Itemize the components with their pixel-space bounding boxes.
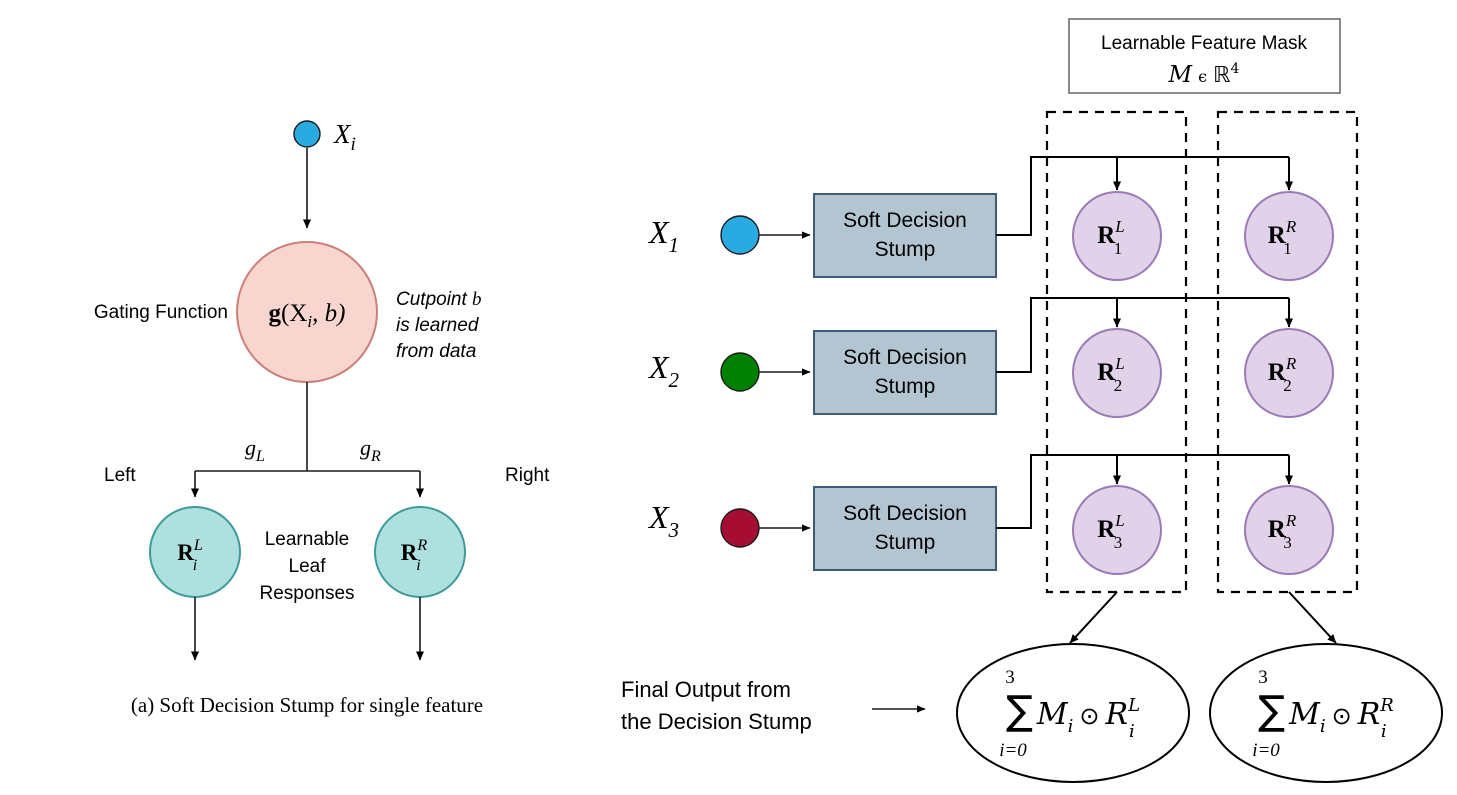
learnable-feature-mask-title: Learnable Feature Mask xyxy=(1101,33,1307,54)
response-circle-r2-right xyxy=(1245,329,1333,417)
response-circle-r3-right xyxy=(1245,486,1333,574)
stump-box-row-2-line-1: Soft Decision xyxy=(843,346,967,369)
stump-box-row-3 xyxy=(814,487,996,570)
cutpoint-annotation-line-3: from data xyxy=(396,341,476,362)
output-left-sum-upper: 3 xyxy=(1005,667,1015,688)
stump-box-row-3-line-2: Stump xyxy=(875,531,936,554)
final-output-line-2: the Decision Stump xyxy=(621,709,812,734)
branch-label-right: Right xyxy=(505,465,550,486)
response-circle-r1-left xyxy=(1073,192,1161,280)
feature-dot-x3 xyxy=(721,509,759,547)
response-circle-r2-left xyxy=(1073,329,1161,417)
learnable-feature-mask-formula: Mϵℝ4 xyxy=(1168,61,1240,88)
edge-right-column-to-output xyxy=(1289,592,1336,643)
stump-box-row-1 xyxy=(814,194,996,277)
feature-label-x1: X1 xyxy=(647,214,679,257)
stump-box-row-3-line-1: Soft Decision xyxy=(843,502,967,525)
feature-dot-x2 xyxy=(721,353,759,391)
gate-label-right: gR xyxy=(360,435,381,465)
cutpoint-annotation-line-2: is learned xyxy=(396,315,480,336)
stump-box-row-1-line-2: Stump xyxy=(875,238,936,261)
response-circle-r1-right xyxy=(1245,192,1333,280)
stump-box-row-2-line-2: Stump xyxy=(875,375,936,398)
learnable-leaf-responses-line-1: Learnable xyxy=(265,529,350,550)
output-ellipse-left xyxy=(957,644,1189,782)
left-input-node-dot xyxy=(294,121,320,147)
gating-function-side-label: Gating Function xyxy=(94,302,228,323)
stump-box-row-2 xyxy=(814,331,996,414)
stump-box-row-1-line-1: Soft Decision xyxy=(843,209,967,232)
learnable-leaf-responses-line-2: Leaf xyxy=(289,556,327,577)
gate-label-left: gL xyxy=(245,435,265,465)
feature-dot-x1 xyxy=(721,216,759,254)
feature-label-x3: X3 xyxy=(647,499,679,542)
figure-root: Xi g(Xi, b) Gating Function Cutpoint b i… xyxy=(0,0,1457,795)
branch-label-left: Left xyxy=(104,465,136,486)
output-right-sum-lower: i=0 xyxy=(1252,740,1280,761)
output-ellipse-right xyxy=(1210,644,1442,782)
final-output-line-1: Final Output from xyxy=(621,677,791,702)
output-left-sum-lower: i=0 xyxy=(999,740,1027,761)
response-circle-r3-left xyxy=(1073,486,1161,574)
left-input-node-label: Xi xyxy=(333,119,356,155)
feature-label-x2: X2 xyxy=(647,349,680,392)
diagram-canvas: Xi g(Xi, b) Gating Function Cutpoint b i… xyxy=(0,0,1457,795)
figure-caption-a: (a) Soft Decision Stump for single featu… xyxy=(131,693,483,717)
cutpoint-annotation-line-1: Cutpoint b xyxy=(396,289,482,310)
gating-function-label: g(Xi, b) xyxy=(269,300,346,331)
edge-left-column-to-output xyxy=(1070,592,1117,643)
output-right-sum-upper: 3 xyxy=(1258,667,1268,688)
learnable-leaf-responses-line-3: Responses xyxy=(259,583,354,604)
